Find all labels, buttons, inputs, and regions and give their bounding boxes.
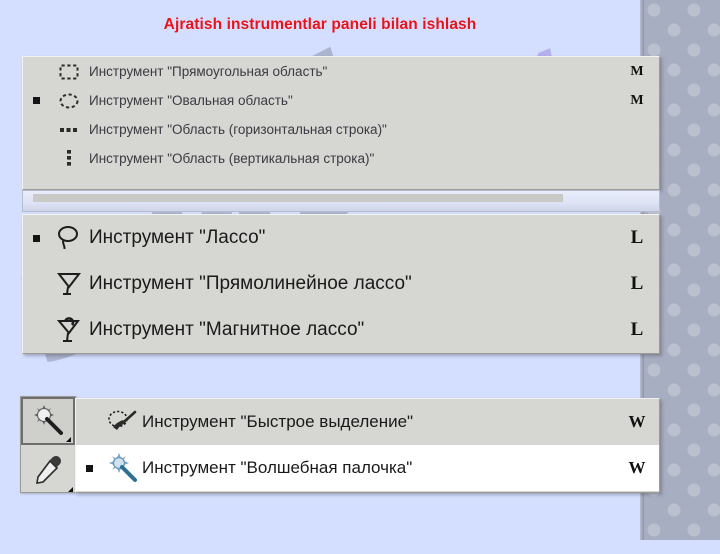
tool-button-eyedropper[interactable] (21, 445, 75, 493)
menu-item-shortcut: L (615, 273, 659, 295)
menu-item-label: Инструмент "Магнитное лассо" (89, 319, 615, 341)
menu-item-single-row-marquee[interactable]: Инструмент "Область (горизонтальная стро… (23, 115, 659, 144)
eyedropper-icon (31, 452, 65, 486)
menu-item-label: Инструмент "Лассо" (89, 227, 615, 249)
menu-item-label: Инструмент "Прямолинейное лассо" (89, 273, 615, 295)
tool-button-magic-wand[interactable] (21, 397, 75, 445)
selected-bullet (23, 97, 49, 104)
menu-item-shortcut: W (615, 458, 659, 478)
magic-wand-icon (102, 452, 142, 484)
elliptical-marquee-icon (49, 92, 89, 110)
polygonal-lasso-icon (49, 269, 89, 299)
menu-item-label: Инструмент "Овальная область" (89, 93, 615, 108)
selected-bullet (76, 465, 102, 472)
tools-palette-strip[interactable] (20, 396, 76, 493)
menu-item-label: Инструмент "Область (горизонтальная стро… (89, 122, 615, 137)
magnetic-lasso-icon (49, 315, 89, 345)
selected-bullet (23, 235, 49, 242)
tool-flyout-corner-icon (68, 487, 73, 492)
quick-selection-icon (102, 407, 142, 437)
tool-flyout-corner-icon (66, 437, 71, 442)
menu-item-magnetic-lasso[interactable]: Инструмент "Магнитное лассо" L (23, 307, 659, 353)
wand-tools-flyout[interactable]: Инструмент "Быстрое выделение" W Инструм… (75, 398, 660, 493)
menu-item-rectangular-marquee[interactable]: Инструмент "Прямоугольная область" M (23, 57, 659, 86)
lasso-tools-flyout[interactable]: Инструмент "Лассо" L Инструмент "Прямоли… (22, 214, 660, 354)
marquee-tools-flyout[interactable]: Инструмент "Прямоугольная область" M Инс… (22, 56, 660, 190)
menu-item-quick-selection[interactable]: Инструмент "Быстрое выделение" W (76, 399, 659, 445)
menu-item-shortcut: L (615, 227, 659, 249)
menu-item-label: Инструмент "Волшебная палочка" (142, 458, 615, 478)
rectangular-marquee-icon (49, 63, 89, 81)
scrollbar-thumb[interactable] (33, 194, 563, 202)
menu-item-label: Инструмент "Быстрое выделение" (142, 412, 615, 432)
panel-divider-strip[interactable] (22, 190, 660, 212)
magic-wand-icon (30, 404, 66, 438)
menu-item-shortcut: M (615, 64, 659, 80)
menu-item-shortcut: M (615, 93, 659, 109)
lasso-icon (49, 223, 89, 253)
menu-item-single-column-marquee[interactable]: Инструмент "Область (вертикальная строка… (23, 144, 659, 173)
single-column-marquee-icon (49, 149, 89, 169)
menu-item-magic-wand[interactable]: Инструмент "Волшебная палочка" W (76, 445, 659, 491)
menu-item-shortcut: L (615, 319, 659, 341)
menu-item-lasso[interactable]: Инструмент "Лассо" L (23, 215, 659, 261)
page-title: Ajratish instrumentlar paneli bilan ishl… (0, 16, 640, 34)
menu-item-elliptical-marquee[interactable]: Инструмент "Овальная область" M (23, 86, 659, 115)
menu-item-label: Инструмент "Прямоугольная область" (89, 64, 615, 79)
menu-item-polygonal-lasso[interactable]: Инструмент "Прямолинейное лассо" L (23, 261, 659, 307)
single-row-marquee-icon (49, 121, 89, 139)
menu-item-shortcut: W (615, 412, 659, 432)
menu-item-label: Инструмент "Область (вертикальная строка… (89, 151, 615, 166)
